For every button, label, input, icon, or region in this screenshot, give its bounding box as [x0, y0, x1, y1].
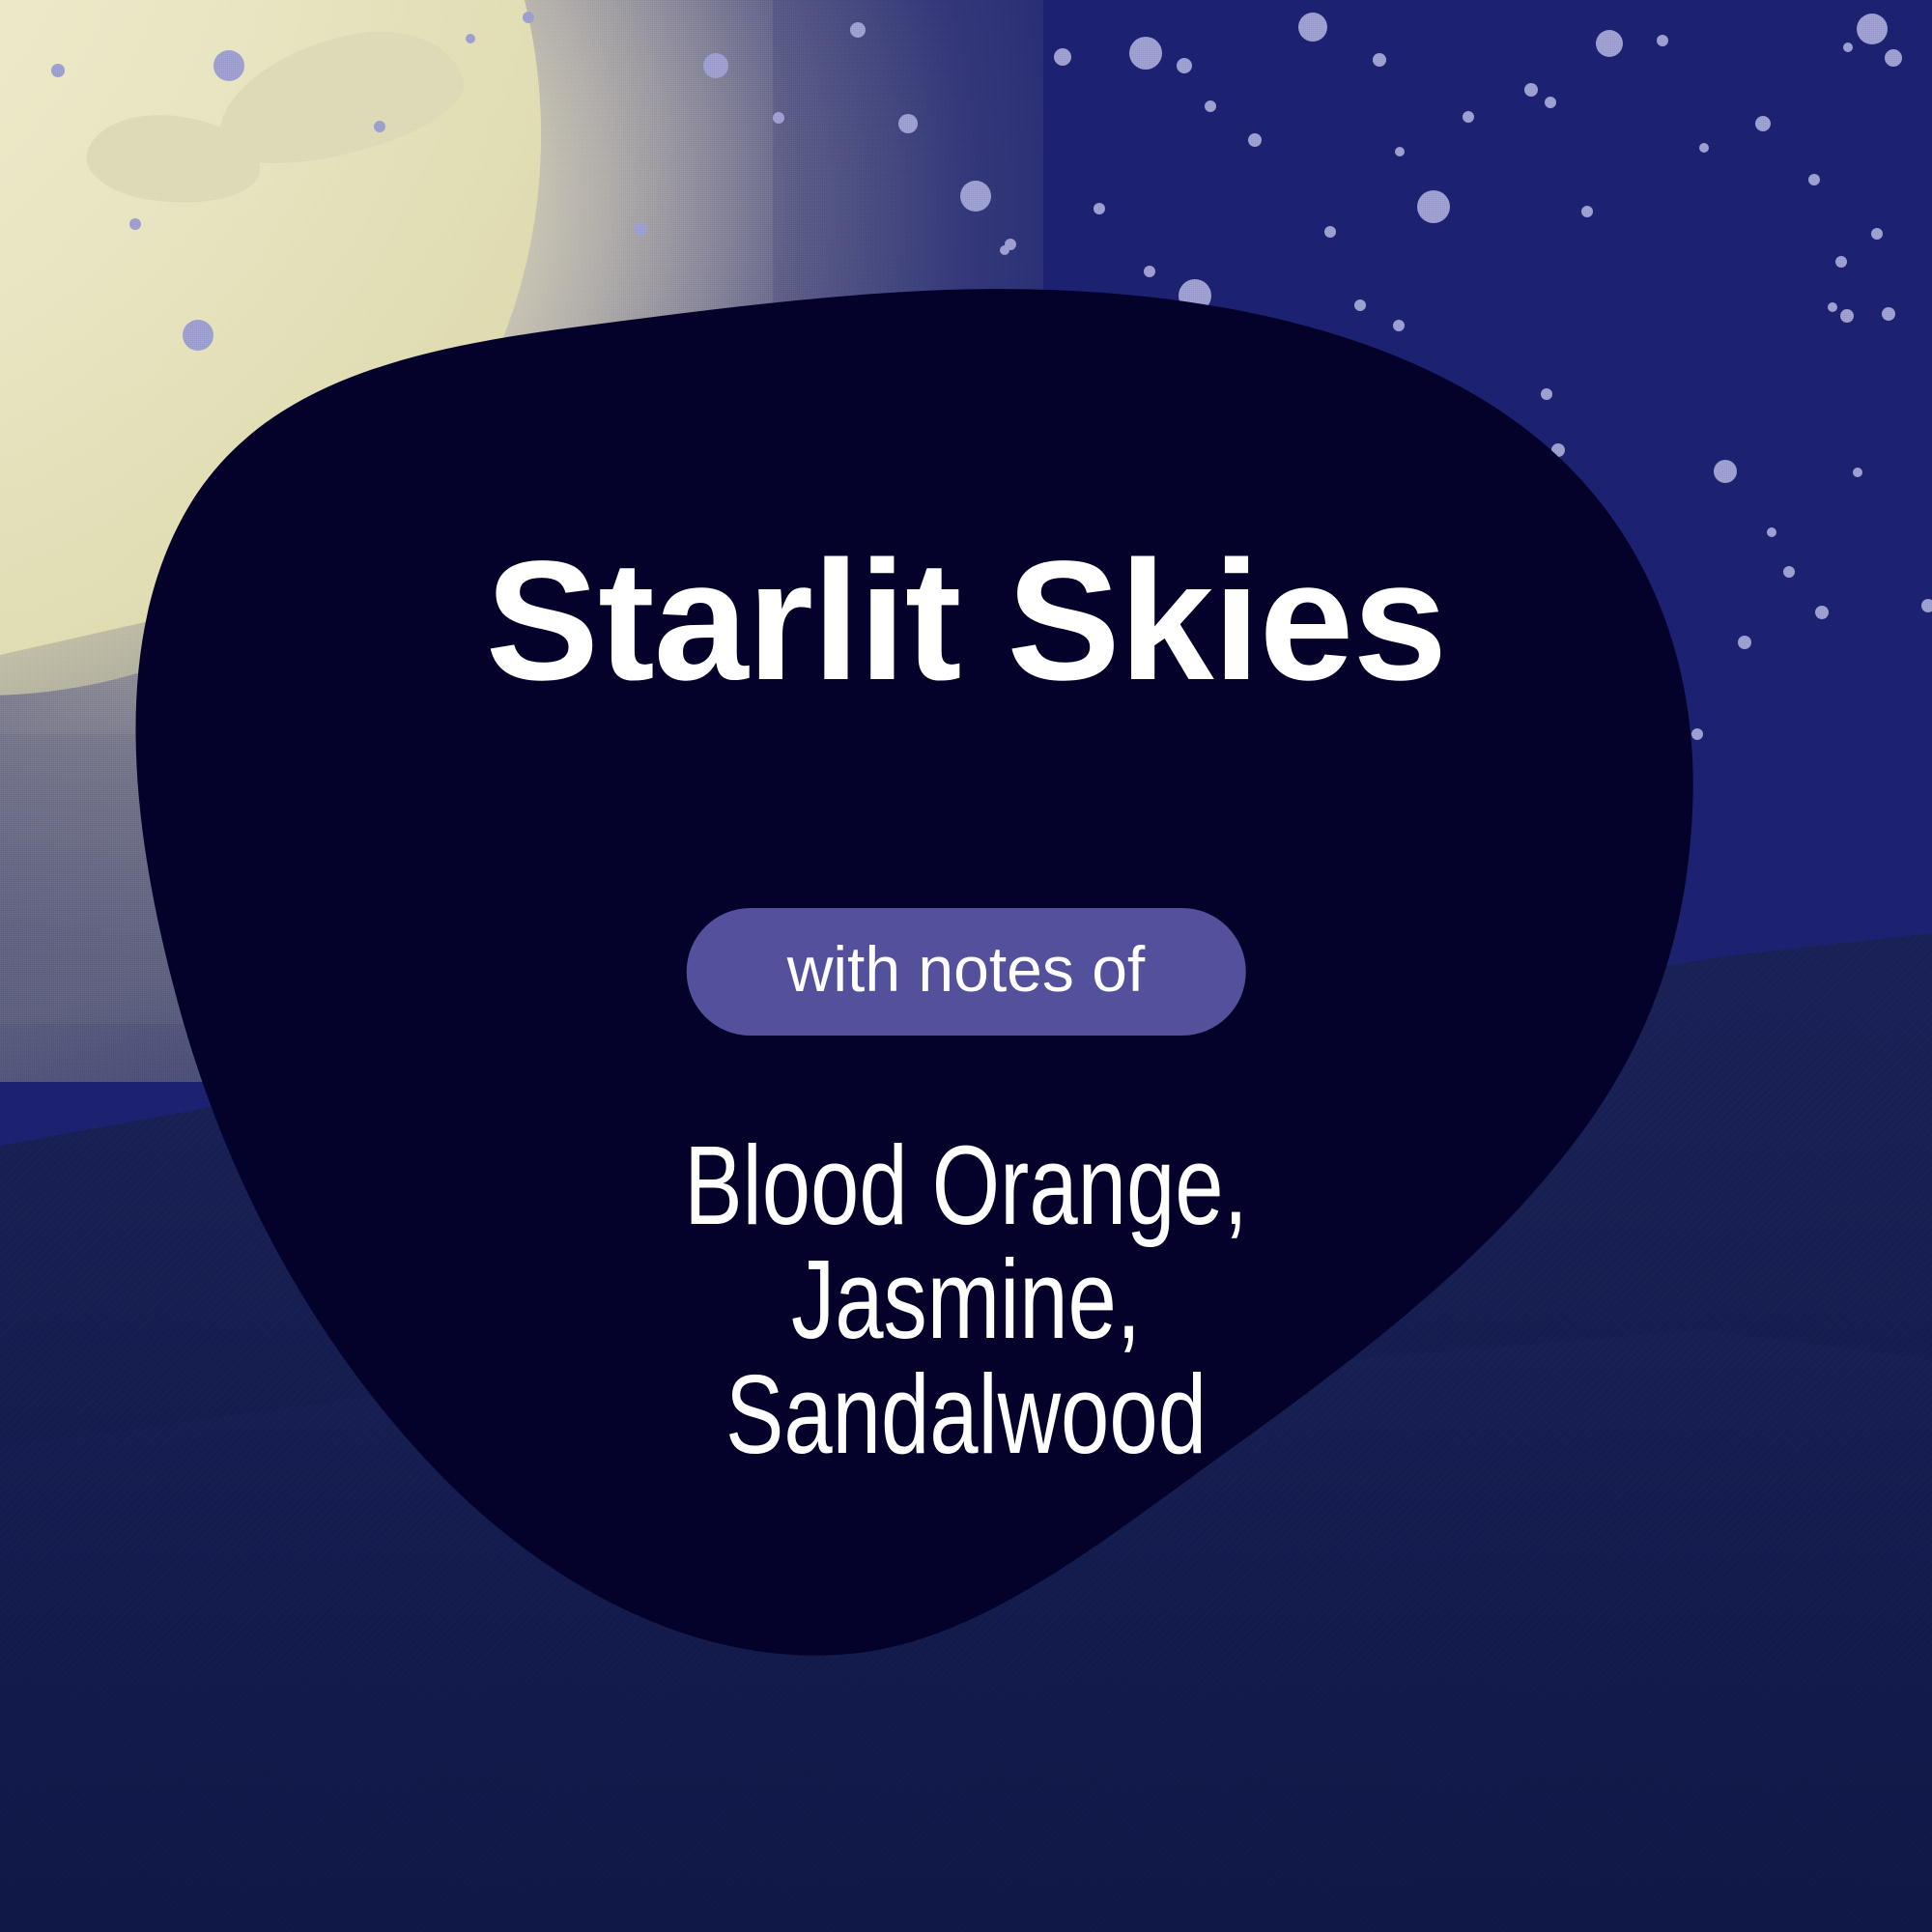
scent-note-line: Sandalwood	[213, 1357, 1719, 1471]
card-content: Starlit Skies with notes of Blood Orange…	[0, 0, 1932, 1932]
scent-note-line: Jasmine,	[213, 1242, 1719, 1356]
scent-note-line: Blood Orange,	[213, 1128, 1719, 1242]
page-title: Starlit Skies	[0, 536, 1932, 706]
status-badge: with notes of	[687, 908, 1246, 1036]
product-card: Starlit Skies with notes of Blood Orange…	[0, 0, 1932, 1932]
scent-notes: Blood Orange, Jasmine, Sandalwood	[213, 1128, 1719, 1471]
